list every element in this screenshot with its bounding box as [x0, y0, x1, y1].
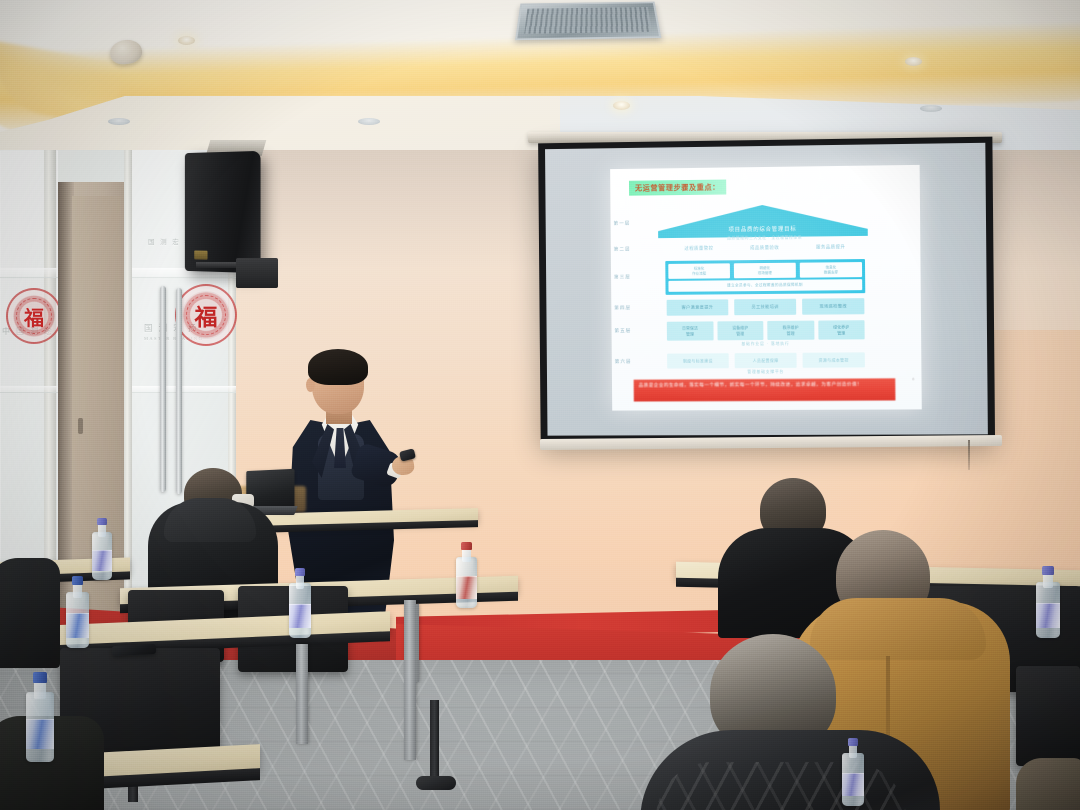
water-bottle[interactable]	[842, 738, 864, 806]
attendee-jacket	[1016, 758, 1080, 810]
water-bottle[interactable]	[289, 568, 311, 638]
slide-page-mark: 8	[912, 376, 914, 381]
water-bottle[interactable]	[1036, 566, 1060, 638]
chair-caster-base	[416, 776, 456, 790]
presenter-hair	[308, 349, 368, 385]
slide-tier2-cell: 服务品质提升	[798, 244, 864, 251]
fu-paper-cut-seal-icon: 福	[175, 284, 237, 346]
bottle-label	[289, 604, 311, 628]
glass-frosted-band	[132, 386, 236, 393]
slide-tier5-row: 日常保洁 管理 设备维护 管理 秩序维护 管理 绿化养护 管理	[667, 320, 865, 340]
slide-tier5-box: 秩序维护 管理	[767, 321, 814, 340]
projection-screen: 无运营管理步骤及重点： 第一层 第二层 第三层 第四层 第五层 第六层 项目品质…	[538, 137, 995, 443]
slide-tier2-cell: 过程质量管控	[666, 245, 732, 252]
attendee-grey-patterned-jacket	[640, 634, 940, 810]
table-leg	[296, 644, 308, 744]
slide-tier5-box: 绿化养护 管理	[818, 320, 865, 339]
slide-tier6-row: 制度与标准建设 人员配置保障 资源与成本管控	[667, 352, 865, 368]
slide-tier3-box: 信息化 数据支撑	[800, 262, 862, 278]
attendee-jacket	[0, 558, 60, 668]
wall-mounted-speaker	[185, 151, 261, 273]
slide-tier6-caption: 管理基础支撑平台	[667, 369, 865, 375]
conference-room-photo: 中 国 测 绘 国 测 宏 扬 MASTER READING 国 测 宏 扬 福…	[0, 0, 1080, 810]
bottle-cap	[461, 542, 471, 550]
slide-tier4-box: 客户满意度提升	[667, 299, 729, 315]
bottle-label	[1036, 603, 1060, 627]
door-knob-icon[interactable]	[78, 418, 83, 434]
slide-tier3-box-line2: 作业流程	[692, 271, 706, 276]
slide-tier3-top-row: 标准化 作业流程 精细化 现场管理 信息化 数据支撑	[668, 262, 862, 279]
bottle-label	[456, 576, 477, 598]
slide-row-label: 第一层	[614, 221, 631, 227]
chair-leg	[430, 700, 439, 786]
fu-paper-cut-seal-icon: 福	[6, 288, 62, 344]
attendee-right-edge	[1016, 758, 1080, 810]
slide-pyramid-label: 项目品质的综合管理目标	[728, 225, 796, 234]
bottle-label	[66, 613, 89, 637]
bottle-cap	[33, 672, 46, 683]
glass-frosted-band	[0, 268, 58, 278]
slide-tier3-block: 标准化 作业流程 精细化 现场管理 信息化 数据支撑 建立全员参与、全过程覆盖的…	[665, 259, 865, 295]
slide-tier5-box-line2: 管理	[837, 330, 845, 336]
attendee-jacket-hood	[164, 498, 256, 542]
ceiling-speaker-icon	[358, 118, 380, 125]
slide-row-label: 第五层	[614, 328, 631, 334]
slide-tier6-box: 资源与成本管控	[803, 352, 865, 367]
fu-seal-char: 福	[195, 298, 218, 332]
slide-pyramid-roof: 项目品质的综合管理目标	[658, 204, 868, 238]
slide-tier3-box: 精细化 现场管理	[734, 263, 796, 279]
bottle-cap	[1042, 566, 1054, 575]
slide-tier5-box: 设备维护 管理	[717, 321, 764, 340]
slide-tier5-box-line2: 管理	[787, 330, 795, 336]
slide-tier2-cell: 成品质量验收	[732, 245, 798, 252]
slide-row-label: 第二层	[614, 246, 631, 252]
ceiling-speaker-icon	[108, 118, 130, 125]
water-bottle[interactable]	[66, 576, 89, 648]
attendee-left-edge	[0, 558, 60, 668]
water-bottle[interactable]	[92, 518, 112, 580]
downlight-icon	[178, 36, 195, 45]
slide-tier2-row: 过程质量管控 成品质量验收 服务品质提升	[666, 238, 864, 258]
glass-door-handle[interactable]	[160, 286, 166, 492]
bottle-label	[842, 773, 864, 796]
projected-slide: 无运营管理步骤及重点： 第一层 第二层 第三层 第四层 第五层 第六层 项目品质…	[610, 165, 922, 411]
slide-tier3-footer: 建立全员参与、全过程覆盖的品质保障机制	[668, 279, 862, 292]
water-bottle[interactable]	[456, 542, 477, 608]
slide-tier3-box-line2: 现场管理	[758, 270, 772, 275]
slide-row-label: 第六层	[615, 359, 632, 365]
glass-door-handle[interactable]	[176, 288, 182, 494]
attendee-jacket-pattern	[656, 762, 906, 810]
bottle-cap	[72, 576, 83, 585]
water-bottle[interactable]	[26, 672, 54, 762]
bottle-label	[26, 719, 54, 750]
slide-tier5-caption: 基础作业层 · 落地执行	[667, 341, 865, 347]
slide-row-label: 第四层	[614, 305, 631, 311]
slide-title-badge: 无运营管理步骤及重点：	[629, 180, 726, 196]
slide-tier3-box-line2: 数据支撑	[824, 270, 838, 275]
chair[interactable]	[1016, 666, 1080, 766]
ceiling-air-vent	[515, 2, 661, 41]
bottle-cap	[97, 518, 107, 525]
speaker-bracket-bottom	[236, 258, 278, 288]
slide-tier3-box: 标准化 作业流程	[668, 263, 730, 279]
bottle-label	[92, 550, 112, 571]
projection-screen-cord	[968, 440, 970, 470]
downlight-icon	[905, 57, 922, 66]
table-leg	[404, 600, 416, 760]
slide-row-label: 第三层	[614, 274, 631, 280]
slide-tier5-box-line2: 管理	[686, 331, 694, 337]
slide-tier6-box: 制度与标准建设	[667, 353, 729, 368]
slide-tier5-box: 日常保洁 管理	[667, 321, 713, 340]
bottle-cap	[848, 738, 859, 746]
fu-seal-char: 福	[24, 302, 44, 331]
bottle-cap	[295, 568, 306, 576]
slide-red-banner: 品质是企业的生命线，落实每一个细节，抓实每一个环节，持续改进，追求卓越，为客户创…	[634, 378, 896, 401]
glass-frosted-band	[0, 386, 58, 393]
slide-tier6-box: 人员配置保障	[735, 353, 797, 368]
slide-tier4-row: 客户满意度提升 员工技能培训 现场巡检整改	[667, 298, 865, 316]
downlight-icon	[613, 101, 630, 110]
slide-tier4-box: 员工技能培训	[734, 299, 796, 316]
slide-tier4-box: 现场巡检整改	[802, 298, 864, 315]
ceiling-speaker-icon	[920, 105, 942, 112]
slide-tier5-box-line2: 管理	[736, 331, 744, 337]
